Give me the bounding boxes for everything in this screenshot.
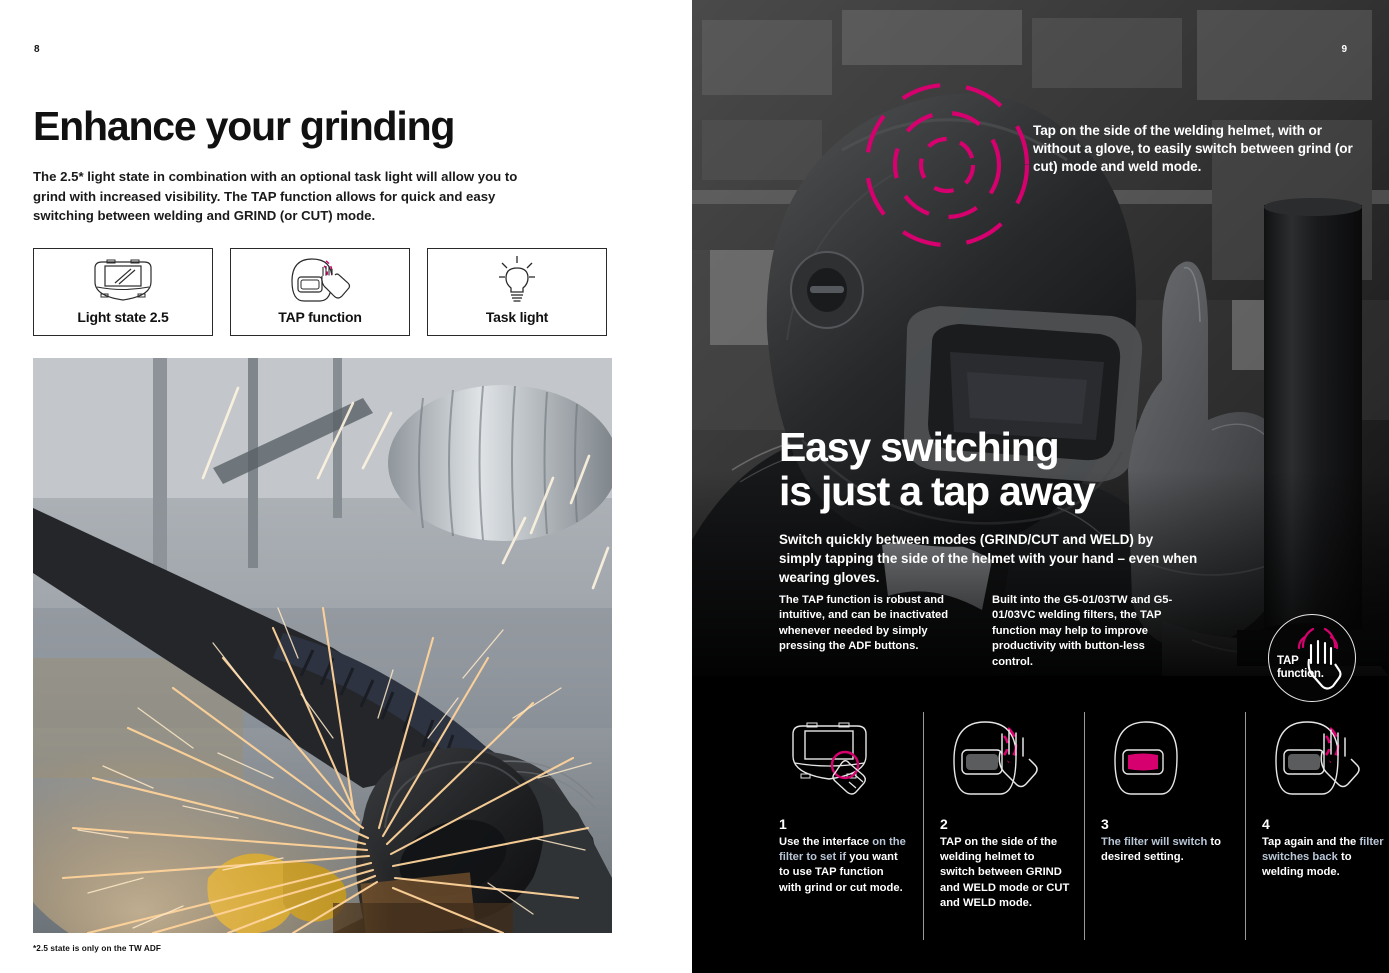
right-page-subhead: Switch quickly between modes (GRIND/CUT … [779,530,1199,587]
filter-interface-tap-icon [779,712,909,804]
page-number-right: 9 [1341,44,1347,55]
step-text: The filter will switch to desired settin… [1101,835,1231,865]
tap-badge-line2: function. [1277,668,1324,681]
body-column-1: The TAP function is robust and intuitive… [779,593,964,670]
step-text-b: The filter will switch [1101,836,1210,848]
welding-filter-icon [34,255,212,305]
step-text: Tap again and the filter switches back t… [1262,835,1389,881]
step-text-a: Tap again and the [1262,836,1359,848]
feature-box-task-light: Task light [427,248,607,336]
brochure-spread: 8 Enhance your grinding The 2.5* light s… [0,0,1389,973]
step-3: 3 The filter will switch to desired sett… [1084,712,1245,940]
step-text-a: Use the interface [779,836,872,848]
step-number: 3 [1101,816,1231,832]
right-page-title-line1: Easy switching [779,425,1095,469]
step-text: TAP on the side of the welding helmet to… [940,835,1070,911]
step-2: 2 TAP on the side of the welding helmet … [923,712,1084,940]
helmet-side-tap-icon [940,712,1070,804]
step-number: 1 [779,816,909,832]
light-bulb-icon [428,255,606,305]
top-callout-text: Tap on the side of the welding helmet, w… [1033,122,1363,176]
feature-box-tap-function: TAP function [230,248,410,336]
helmet-tap-again-icon [1262,712,1389,804]
page-number-left: 8 [34,44,40,55]
grinding-sparks-photo [33,358,612,933]
intro-paragraph: The 2.5* light state in combination with… [33,167,543,226]
helmet-magenta-lens-icon [1101,712,1231,804]
right-page-title-line2: is just a tap away [779,469,1095,513]
right-page-columns: The TAP function is robust and intuitive… [779,593,1219,670]
feature-box-light-state: Light state 2.5 [33,248,213,336]
footnote: *2.5 state is only on the TW ADF [33,944,161,953]
step-text: Use the interface on the filter to set i… [779,835,909,896]
tap-function-badge: TAP function. [1268,614,1356,702]
page-title: Enhance your grinding [33,105,454,148]
left-page: 8 Enhance your grinding The 2.5* light s… [0,0,692,973]
steps-strip: 1 Use the interface on the filter to set… [779,712,1364,940]
step-text-a: TAP on the side of the welding helmet to… [940,836,1069,909]
tap-badge-line1: TAP [1277,655,1324,668]
right-page-title: Easy switching is just a tap away [779,425,1095,514]
body-column-2: Built into the G5-01/03TW and G5-01/03VC… [992,593,1177,670]
tap-function-badge-text: TAP function. [1277,655,1324,681]
step-4: 4 Tap again and the filter switches back… [1245,712,1389,940]
step-1: 1 Use the interface on the filter to set… [779,712,923,940]
step-number: 4 [1262,816,1389,832]
feature-label: Light state 2.5 [77,309,168,325]
feature-label: TAP function [278,309,361,325]
tap-helmet-hand-icon [231,255,409,305]
step-number: 2 [940,816,1070,832]
feature-box-row: Light state 2.5 TAP function [33,248,607,336]
feature-label: Task light [486,309,548,325]
